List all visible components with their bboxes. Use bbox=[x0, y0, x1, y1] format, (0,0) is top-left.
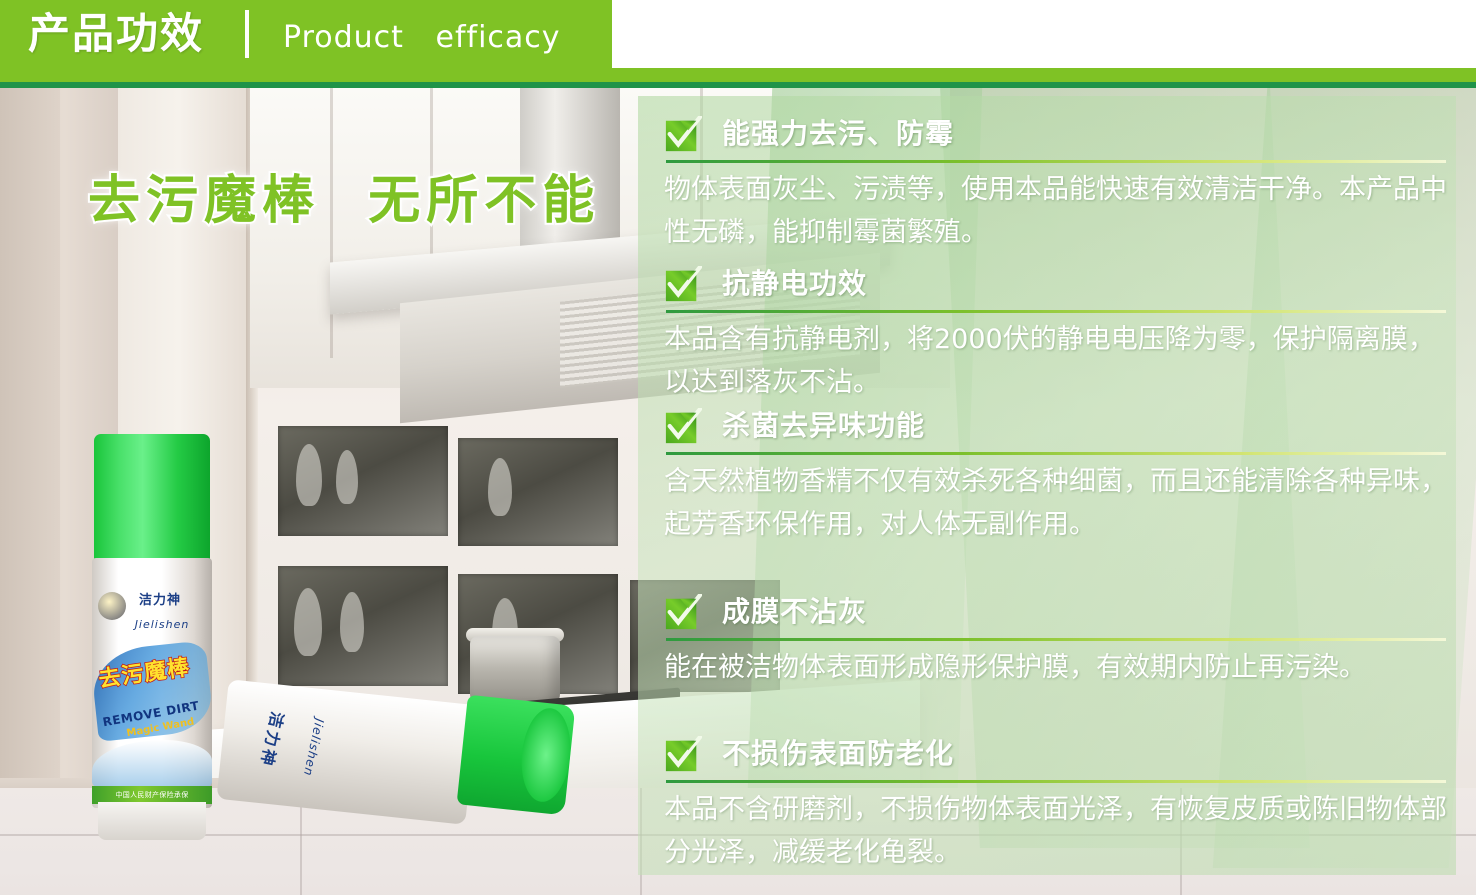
feature-divider bbox=[666, 160, 1446, 163]
glass-cabinet bbox=[278, 426, 448, 536]
check-square-icon bbox=[664, 736, 702, 774]
product-bottle-main: 洁力神 Jielishen 去污魔棒 REMOVE DIRT Magic Wan… bbox=[92, 434, 212, 834]
main-slogan: 去污魔棒 无所不能 bbox=[88, 158, 600, 233]
feature-body: 能在被洁物体表面形成隐形保护膜，有效期内防止再污染。 bbox=[664, 646, 1450, 689]
feature-title: 杀菌去异味功能 bbox=[722, 406, 925, 446]
feature-body: 含天然植物香精不仅有效杀死各种细菌，而且还能清除各种异味，起芳香环保作用，对人体… bbox=[664, 460, 1450, 546]
feature-item: 抗静电功效 本品含有抗静电剂，将2000伏的静电电压降为零，保护隔离膜，以达到落… bbox=[664, 264, 1454, 404]
feature-header: 杀菌去异味功能 bbox=[664, 406, 1454, 450]
product-bottle-lying: 洁力神 Jielishen bbox=[222, 686, 562, 826]
bottle-body: 洁力神 Jielishen 去污魔棒 REMOVE DIRT Magic Wan… bbox=[92, 558, 212, 808]
header-green-strip bbox=[0, 68, 1476, 82]
bottle-label-wave bbox=[92, 740, 212, 792]
feature-title: 不损伤表面防老化 bbox=[722, 734, 954, 774]
feature-body: 物体表面灰尘、污渍等，使用本品能快速有效清洁干净。本产品中性无磷，能抑制霉菌繁殖… bbox=[664, 168, 1450, 254]
lying-bottle-brand-en: Jielishen bbox=[301, 717, 327, 777]
check-square-icon bbox=[664, 266, 702, 304]
feature-item: 能强力去污、防霉 物体表面灰尘、污渍等，使用本品能快速有效清洁干净。本产品中性无… bbox=[664, 114, 1454, 254]
feature-divider bbox=[666, 638, 1446, 641]
feature-divider bbox=[666, 310, 1446, 313]
glassware bbox=[336, 450, 358, 504]
feature-panel: 能强力去污、防霉 物体表面灰尘、污渍等，使用本品能快速有效清洁干净。本产品中性无… bbox=[638, 96, 1456, 875]
feature-item: 不损伤表面防老化 本品不含研磨剂，不损伤物体表面光泽，有恢复皮质或陈旧物体部分光… bbox=[664, 734, 1454, 874]
poster-stage: 洁力神 Jielishen 洁力神 Jielishen 去污魔棒 REMOVE … bbox=[0, 0, 1476, 895]
check-square-icon bbox=[664, 408, 702, 446]
feature-title: 能强力去污、防霉 bbox=[722, 114, 954, 154]
check-square-icon bbox=[664, 116, 702, 154]
feature-header: 能强力去污、防霉 bbox=[664, 114, 1454, 158]
feature-body: 本品含有抗静电剂，将2000伏的静电电压降为零，保护隔离膜，以达到落灰不沾。 bbox=[664, 318, 1450, 404]
feature-item: 杀菌去异味功能 含天然植物香精不仅有效杀死各种细菌，而且还能清除各种异味，起芳香… bbox=[664, 406, 1454, 546]
bottle-brand-en: Jielishen bbox=[120, 618, 204, 631]
glassware bbox=[296, 444, 322, 506]
bottle-base bbox=[98, 802, 206, 840]
page-title-en: Product efficacy bbox=[283, 20, 561, 55]
glass-cabinet bbox=[458, 438, 618, 546]
glassware bbox=[340, 592, 364, 652]
bottle-green-cap bbox=[94, 434, 210, 562]
header-dark-underline bbox=[0, 82, 1476, 88]
feature-header: 成膜不沾灰 bbox=[664, 592, 1454, 636]
feature-title: 成膜不沾灰 bbox=[722, 592, 867, 632]
lying-bottle-body: 洁力神 Jielishen bbox=[216, 679, 477, 824]
feature-divider bbox=[666, 452, 1446, 455]
feature-item: 成膜不沾灰 能在被洁物体表面形成隐形保护膜，有效期内防止再污染。 bbox=[664, 592, 1454, 689]
feature-divider bbox=[666, 780, 1446, 783]
feature-body: 本品不含研磨剂，不损伤物体表面光泽，有恢复皮质或陈旧物体部分光泽，减缓老化龟裂。 bbox=[664, 788, 1450, 874]
lying-bottle-brand-cn: 洁力神 bbox=[256, 710, 291, 771]
glass-cabinet bbox=[278, 566, 448, 686]
feature-title: 抗静电功效 bbox=[722, 264, 867, 304]
feature-header: 不损伤表面防老化 bbox=[664, 734, 1454, 778]
wall-left-edge bbox=[0, 88, 60, 848]
feature-list: 能强力去污、防霉 物体表面灰尘、污渍等，使用本品能快速有效清洁干净。本产品中性无… bbox=[638, 96, 1456, 875]
page-title-cn: 产品功效 bbox=[28, 10, 204, 58]
glassware bbox=[294, 588, 322, 656]
feature-header: 抗静电功效 bbox=[664, 264, 1454, 308]
glassware bbox=[488, 458, 512, 516]
check-square-icon bbox=[664, 594, 702, 632]
header-title-divider bbox=[245, 10, 249, 58]
